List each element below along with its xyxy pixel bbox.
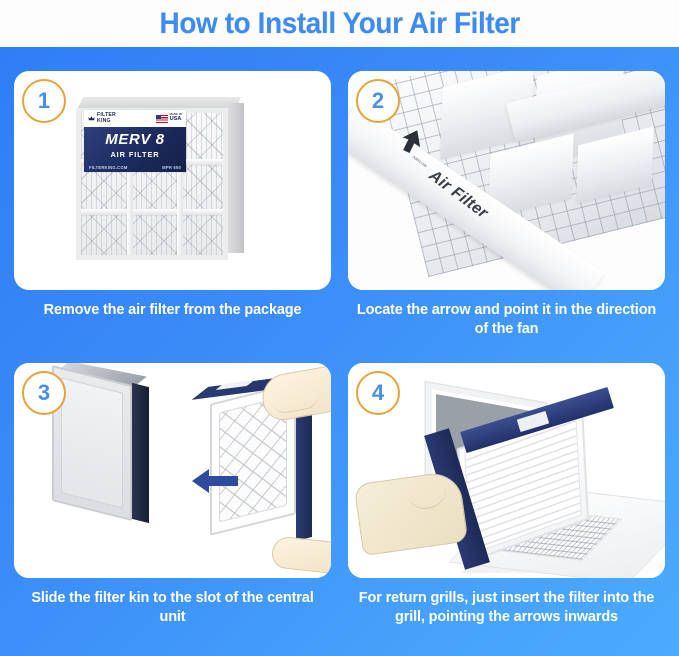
step-badge-3: 3 (22, 371, 66, 415)
step-caption-1: Remove the air filter from the package (14, 301, 331, 320)
mpr-rating: MPR 650 (162, 165, 181, 170)
step-panel-1: 1 (14, 71, 331, 355)
step-caption-3: Slide the filter kin to the slot of the … (14, 589, 331, 627)
product-type: AIR FILTER (110, 150, 159, 159)
step-panel-4: 4 For return grills, just insert t (348, 363, 665, 647)
hand-top (259, 364, 331, 423)
country-text: USA (170, 116, 182, 122)
step-card-1: 1 (14, 71, 331, 290)
hand-bottom (271, 535, 331, 574)
step-caption-2: Locate the arrow and point it in the dir… (348, 301, 665, 339)
usa-flag-icon (156, 115, 168, 123)
step-badge-2: 2 (356, 79, 400, 123)
step-badge-4: 4 (356, 371, 400, 415)
step-caption-4: For return grills, just insert the filte… (348, 589, 665, 627)
brand-website: FILTERKING.COM (89, 165, 128, 170)
step-panel-3: 3 (14, 363, 331, 647)
step-card-2: 2 AIRFLOW Air Filter (348, 71, 665, 290)
header-band: How to Install Your Air Filter (0, 0, 679, 47)
step-panel-2: 2 AIRFLOW Air Filter (348, 71, 665, 355)
steps-grid: 1 (0, 47, 679, 656)
step-badge-1: 1 (22, 79, 66, 123)
filter-king-logo: FILTER KING (88, 113, 116, 124)
step-card-3: 3 (14, 363, 331, 578)
made-in-usa-mark: MADE IN USA (156, 114, 182, 122)
brand-line-2: KING (97, 119, 116, 124)
insert-direction-arrow (192, 467, 238, 500)
page-title: How to Install Your Air Filter (159, 7, 519, 41)
step-card-4: 4 (348, 363, 665, 578)
hand-inserting-filter (354, 469, 469, 555)
crown-icon (88, 115, 95, 122)
merv-rating: MERV 8 (105, 132, 164, 147)
infographic-root: How to Install Your Air Filter 1 (0, 0, 679, 656)
product-label: FILTER KING MADE IN USA (84, 110, 186, 172)
